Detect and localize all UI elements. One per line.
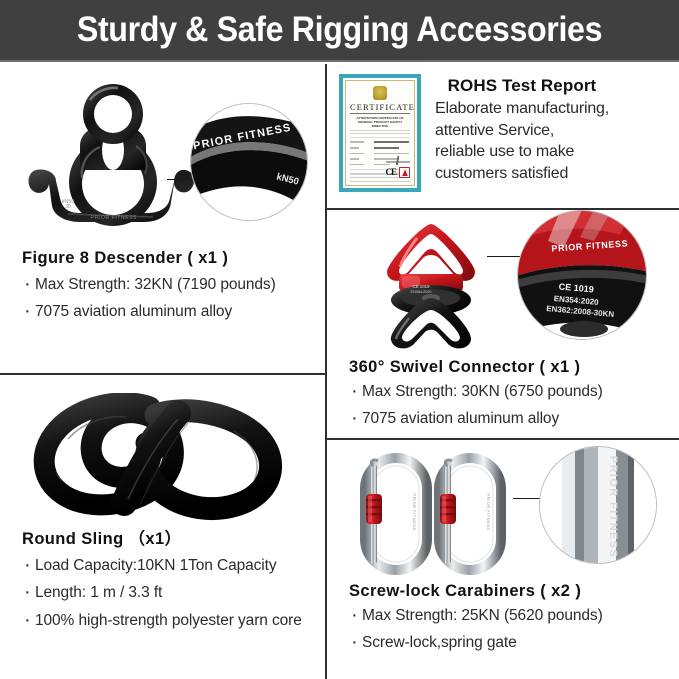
carabiner-title: Screw-lock Carabiners ( x2 ) <box>349 582 673 601</box>
list-item: Load Capacity:10KN 1Ton Capacity <box>22 556 319 576</box>
svg-text:PRIOR FITNESS: PRIOR FITNESS <box>607 456 619 559</box>
svg-text:30: 30 <box>65 204 71 210</box>
magnified-engraving-swivel: PRIOR FITNESS CE 1019 EN354:2020 EN362:2… <box>518 211 647 340</box>
list-item: Screw-lock,spring gate <box>349 633 673 653</box>
rohs-line: reliable use to make <box>435 141 609 163</box>
svg-text:PRIOR FITNESS: PRIOR FITNESS <box>91 215 137 221</box>
figure-8-descender-image: kN50 30 PRIOR FITNESS PRIOR FITNESS kN50 <box>0 64 325 249</box>
swivel-connector-image: CE 1019 EN354:2020 <box>327 210 679 358</box>
list-item: 7075 aviation aluminum alloy <box>22 302 315 322</box>
rohs-title: ROHS Test Report <box>435 76 609 96</box>
figure-8-bullets: Max Strength: 32KN (7190 pounds) 7075 av… <box>22 275 315 323</box>
magnified-engraving-figure-8: PRIOR FITNESS kN50 <box>191 104 308 221</box>
round-sling-illustration <box>28 393 293 523</box>
page-title: Sturdy & Safe Rigging Accessories <box>77 10 602 50</box>
carabiner-bullets: Max Strength: 25KN (5620 pounds) Screw-l… <box>349 606 673 654</box>
round-sling-bullets: Load Capacity:10KN 1Ton Capacity Length:… <box>22 556 319 631</box>
svg-text:PRIOR FITNESS: PRIOR FITNESS <box>412 493 417 530</box>
panel-round-sling: Round Sling （x1） Load Capacity:10KN 1Ton… <box>0 375 325 679</box>
certificate-heading: CERTIFICATE <box>350 102 410 114</box>
panel-swivel-connector: CE 1019 EN354:2020 <box>327 210 679 438</box>
magnifier-bubble-figure-8: PRIOR FITNESS kN50 <box>190 103 308 221</box>
swivel-title: 360° Swivel Connector ( x1 ) <box>349 358 673 377</box>
certificate-crest-icon <box>373 86 387 100</box>
carabiners-image: PRIOR FITNESS PRIOR FITNESS <box>327 440 679 582</box>
content-grid: kN50 30 PRIOR FITNESS PRIOR FITNESS kN50 <box>0 64 679 679</box>
ce-mark-icon: CE <box>385 167 396 177</box>
magnifier-bubble-swivel: PRIOR FITNESS CE 1019 EN354:2020 EN362:2… <box>517 210 647 340</box>
header-banner: Sturdy & Safe Rigging Accessories <box>0 0 679 62</box>
list-item: Max Strength: 25KN (5620 pounds) <box>349 606 673 626</box>
infographic-page: Sturdy & Safe Rigging Accessories <box>0 0 679 679</box>
rohs-line: attentive Service, <box>435 120 609 142</box>
panel-rohs-test-report: CERTIFICATE ATTESTATION CERTIFICATE OF G… <box>327 64 679 208</box>
magnifier-bubble-carabiner: PRIOR FITNESS <box>539 446 657 564</box>
list-item: 7075 aviation aluminum alloy <box>349 409 673 429</box>
round-sling-title: Round Sling （x1） <box>22 525 319 549</box>
list-item: Max Strength: 32KN (7190 pounds) <box>22 275 315 295</box>
round-sling-image <box>0 375 325 525</box>
rohs-line: customers satisfied <box>435 163 609 185</box>
swivel-connector-illustration: CE 1019 EN354:2020 <box>369 218 494 353</box>
svg-text:EN354:2020: EN354:2020 <box>410 290 431 294</box>
carabiners-illustration: PRIOR FITNESS PRIOR FITNESS <box>355 452 515 577</box>
certificate-subheading: ATTESTATION CERTIFICATE OF GENERAL PRODU… <box>350 116 410 129</box>
rohs-text-block: ROHS Test Report Elaborate manufacturing… <box>435 74 609 192</box>
certificate-thumbnail: CERTIFICATE ATTESTATION CERTIFICATE OF G… <box>339 74 421 192</box>
svg-text:PRIOR FITNESS: PRIOR FITNESS <box>486 493 491 530</box>
figure-8-descender-illustration: kN50 30 PRIOR FITNESS <box>18 74 208 234</box>
panel-screw-lock-carabiners: PRIOR FITNESS PRIOR FITNESS <box>327 440 679 679</box>
svg-text:CE 1019: CE 1019 <box>412 284 430 289</box>
panel-figure-8-descender: kN50 30 PRIOR FITNESS PRIOR FITNESS kN50 <box>0 64 325 373</box>
certificate-signature <box>350 156 410 165</box>
list-item: Max Strength: 30KN (6750 pounds) <box>349 382 673 402</box>
list-item: Length: 1 m / 3.3 ft <box>22 583 319 603</box>
figure-8-title: Figure 8 Descender ( x1 ) <box>22 249 315 268</box>
swivel-bullets: Max Strength: 30KN (6750 pounds) 7075 av… <box>349 382 673 430</box>
list-item: 100% high-strength polyester yarn core <box>22 611 319 631</box>
rohs-mark-icon <box>399 167 410 178</box>
rohs-line: Elaborate manufacturing, <box>435 98 609 120</box>
magnified-engraving-carabiner: PRIOR FITNESS <box>540 447 657 564</box>
